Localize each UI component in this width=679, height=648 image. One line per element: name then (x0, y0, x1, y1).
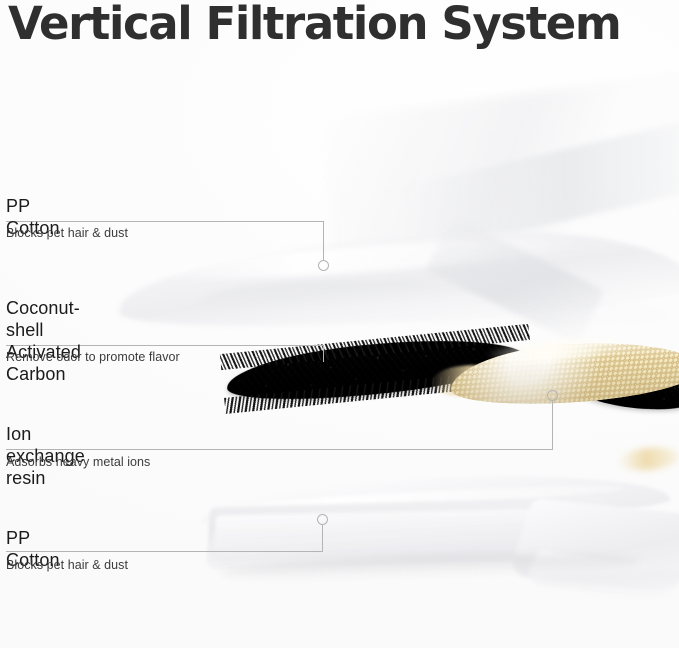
resin-highlight (486, 336, 637, 364)
leader-marker-pp-cotton-bottom (318, 515, 328, 525)
carbon-top-texture-right (572, 359, 679, 391)
pp-cotton-bottom-layer (199, 468, 670, 530)
resin-bead-grid (447, 336, 679, 409)
filter-tray-face (212, 508, 547, 561)
carbon-granules (224, 329, 527, 408)
callout-sub-ion-exchange-resin: Adsorbs heavy metal ions (6, 455, 150, 470)
callout-leader-lines (0, 0, 679, 648)
infographic-canvas: Vertical Filtration System PP Cotton Blo… (0, 0, 679, 648)
callout-sub-pp-cotton-top: Blocks pet hair & dust (6, 226, 128, 241)
resin-shading (447, 336, 679, 409)
pp-cotton-top-layer (116, 220, 679, 338)
activated-carbon-layer (224, 329, 527, 408)
filter-tray-body (206, 496, 610, 569)
carbon-granules-right (573, 365, 679, 415)
leader-marker-pp-cotton-top (319, 261, 329, 271)
resin-left-tail (431, 363, 494, 399)
carbon-bottom-texture (224, 368, 534, 414)
leader-marker-ion-exchange-resin (548, 391, 558, 401)
callout-sub-pp-cotton-bottom: Blocks pet hair & dust (6, 558, 128, 573)
background-plastic-highlight (396, 114, 679, 256)
filter-tray-shadow (220, 551, 640, 584)
tray-top-lip (206, 481, 626, 517)
filter-tray-right-panel (508, 498, 679, 595)
pp-cotton-top-edge (199, 272, 670, 333)
resin-blur-bottom-right (617, 445, 679, 472)
background-plastic-sweep (321, 67, 679, 287)
ion-exchange-resin-layer (447, 336, 679, 409)
pp-cotton-top-fold (425, 216, 604, 344)
activated-carbon-layer-right (573, 365, 679, 415)
callout-sub-activated-carbon: Remove odor to promote flavor (6, 350, 180, 365)
leader-path-ion-exchange-resin (6, 401, 553, 450)
callout-heading-activated-carbon: Coconut-shell Activated Carbon (6, 297, 81, 385)
background-wash (0, 0, 679, 648)
filter-tray-right-edge (524, 550, 679, 603)
page-title: Vertical Filtration System (8, 0, 620, 50)
carbon-top-texture (220, 324, 530, 370)
pp-cotton-top-highlight (150, 231, 581, 287)
